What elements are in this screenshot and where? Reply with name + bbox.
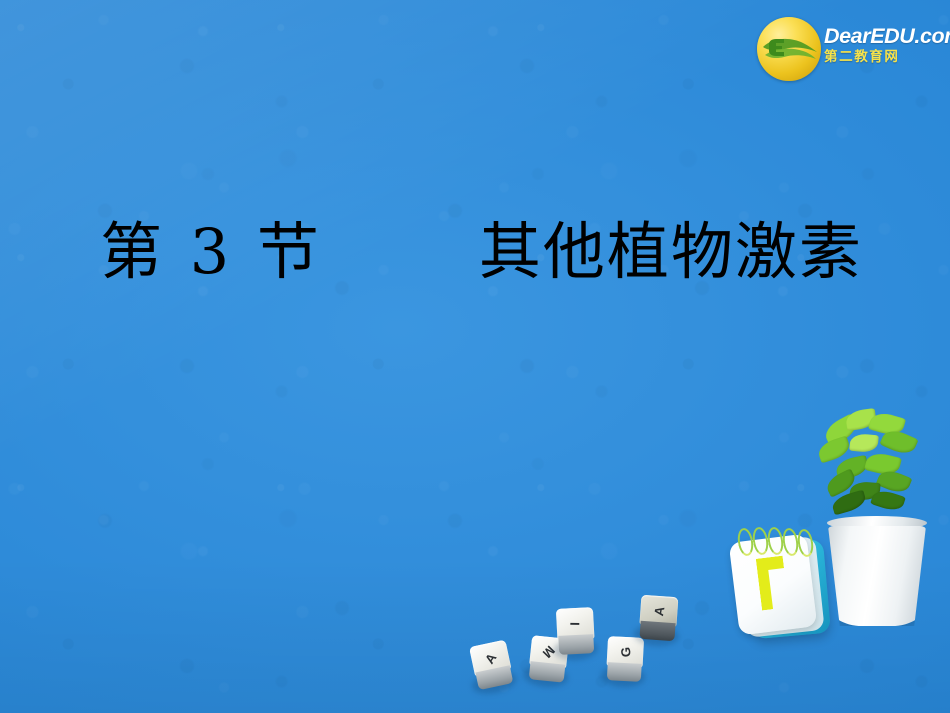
spiral-notepad: [729, 524, 833, 646]
logo-subtitle: 第二教育网: [824, 51, 950, 65]
keyboard-key-a: A: [469, 640, 514, 689]
key-label: A: [641, 590, 677, 632]
dearedu-logo: DearEDU.com 第二教育网: [757, 17, 943, 83]
slide-title: 第 3 节 其他植物激素: [100, 206, 860, 298]
key-label: I: [559, 605, 591, 643]
title-main: 其他植物激素: [479, 221, 863, 283]
keyboard-key-a-dark: A: [639, 595, 679, 639]
presentation-slide: DearEDU.com 第二教育网 第 3 节 其他植物激素: [0, 0, 950, 713]
keyboard-key-g: G: [606, 636, 644, 680]
logo-title: DearEDU.com: [824, 26, 950, 48]
notepad-glyph-icon: [756, 556, 789, 611]
title-lead: 第 3 节: [100, 221, 323, 283]
plant-leaf: [849, 433, 879, 454]
keyboard-key-i: I: [556, 607, 595, 653]
dearedu-globe-icon: [757, 17, 821, 81]
plant-pot: [828, 526, 926, 626]
logo-text-block: DearEDU.com 第二教育网: [824, 26, 950, 64]
